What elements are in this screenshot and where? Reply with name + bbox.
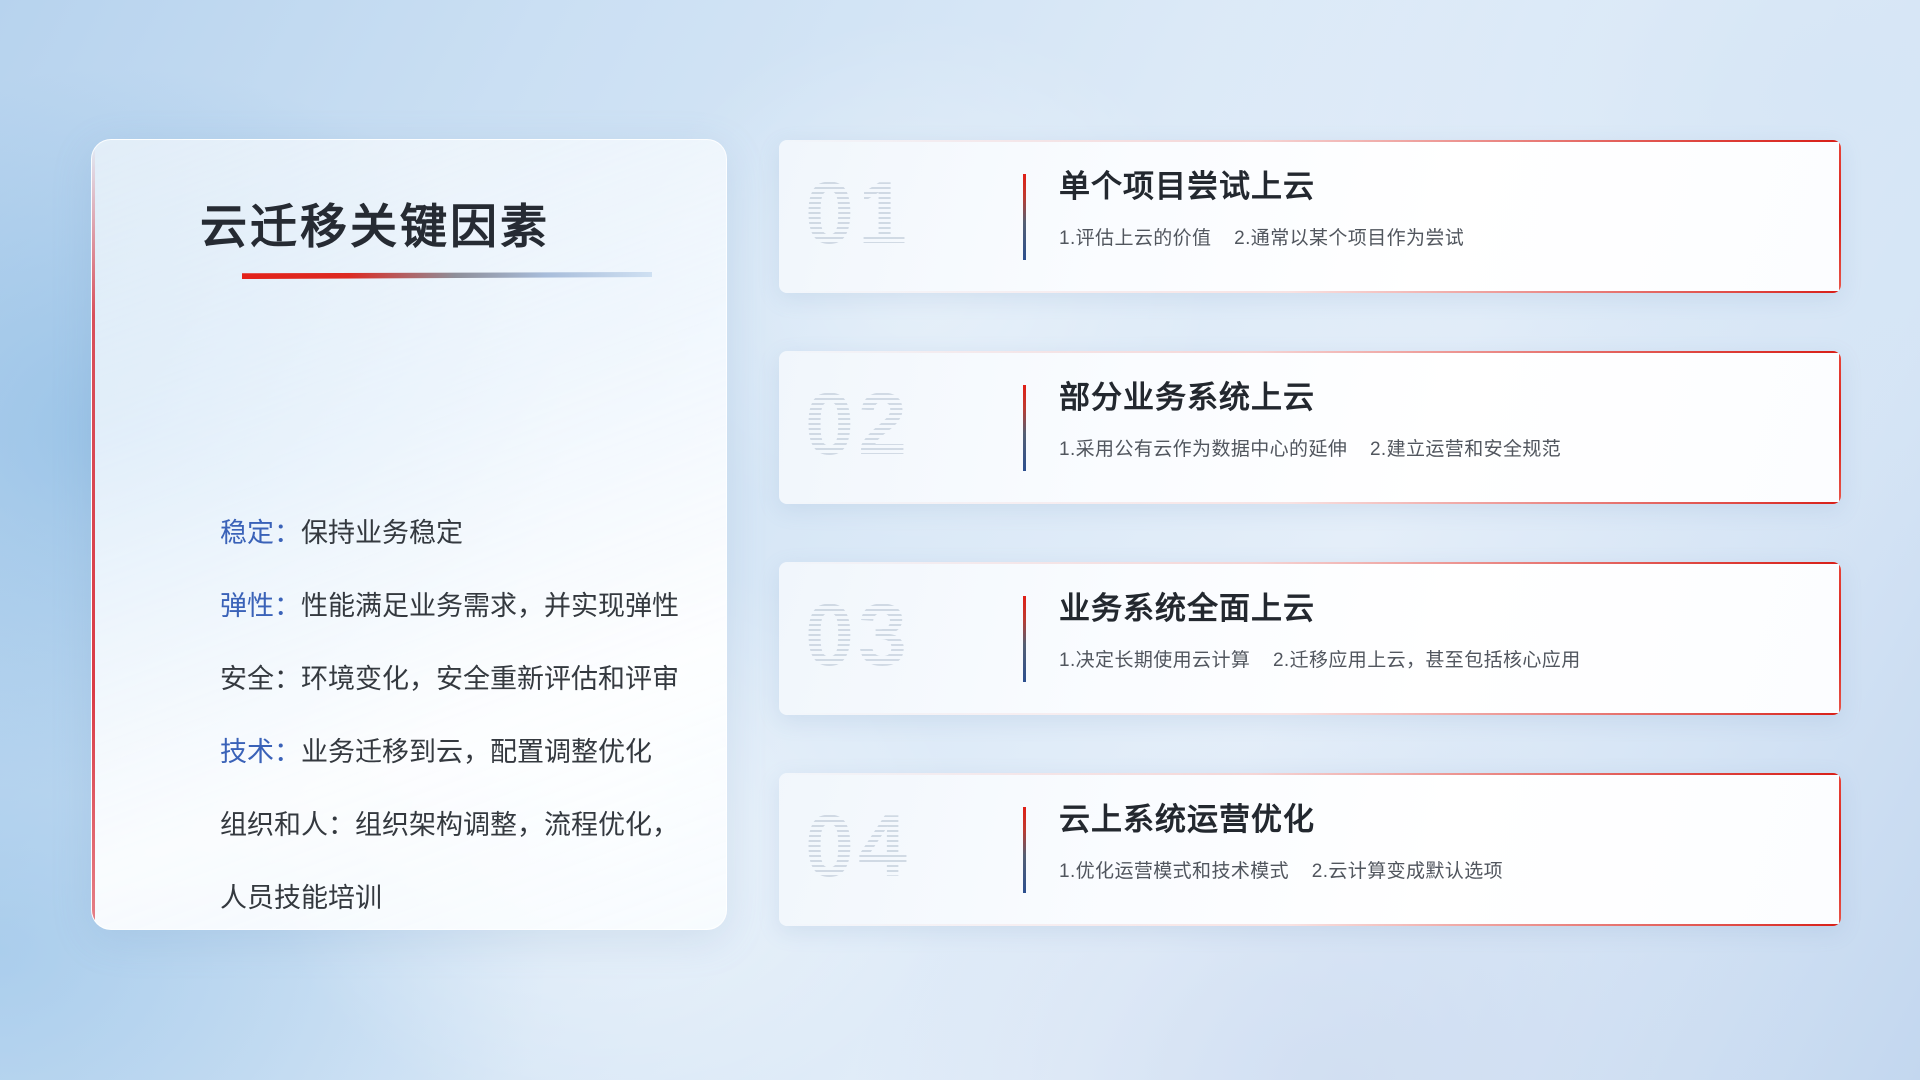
step-title: 部分业务系统上云 bbox=[1059, 379, 1817, 418]
list-item-value: 保持业务稳定 bbox=[301, 518, 463, 548]
step-description: 1.评估上云的价值 2.通常以某个项目作为尝试 bbox=[1059, 223, 1817, 250]
key-factors-panel: 云迁移关键因素 稳定：保持业务稳定 弹性：性能满足业务需求，并实现弹性 安全：环… bbox=[91, 139, 727, 930]
list-item: 人员技能培训 bbox=[220, 885, 698, 912]
key-factors-list: 稳定：保持业务稳定 弹性：性能满足业务需求，并实现弹性 安全：环境变化，安全重新… bbox=[220, 520, 698, 912]
card-bottom-edge bbox=[779, 502, 1841, 504]
list-item-key: 稳定： bbox=[220, 518, 301, 548]
title-underline-rule bbox=[242, 272, 652, 279]
card-top-edge bbox=[779, 351, 1841, 353]
step-accent-bar bbox=[1023, 385, 1026, 471]
step-accent-bar bbox=[1023, 174, 1026, 260]
list-item-key: 技术： bbox=[220, 737, 301, 767]
list-item-value: 人员技能培训 bbox=[220, 883, 382, 913]
card-bottom-edge bbox=[779, 291, 1841, 293]
card-top-edge bbox=[779, 140, 1841, 142]
step-number: 01 bbox=[805, 162, 911, 264]
step-accent-bar bbox=[1023, 807, 1026, 893]
step-text-block: 业务系统全面上云 1.决定长期使用云计算 2.迁移应用上云，甚至包括核心应用 bbox=[1059, 590, 1817, 672]
list-item-value: 环境变化，安全重新评估和评审 bbox=[301, 664, 679, 694]
list-item-value: 性能满足业务需求，并实现弹性 bbox=[301, 591, 679, 621]
step-card[interactable]: 02 部分业务系统上云 1.采用公有云作为数据中心的延伸 2.建立运营和安全规范 bbox=[779, 351, 1841, 504]
list-item: 稳定：保持业务稳定 bbox=[220, 520, 698, 547]
step-text-block: 云上系统运营优化 1.优化运营模式和技术模式 2.云计算变成默认选项 bbox=[1059, 801, 1817, 883]
step-description: 1.采用公有云作为数据中心的延伸 2.建立运营和安全规范 bbox=[1059, 434, 1817, 461]
card-bottom-edge bbox=[779, 924, 1841, 926]
list-item: 弹性：性能满足业务需求，并实现弹性 bbox=[220, 593, 698, 620]
step-number: 02 bbox=[805, 373, 911, 475]
step-title: 业务系统全面上云 bbox=[1059, 590, 1817, 629]
list-item-value: 业务迁移到云，配置调整优化 bbox=[301, 737, 652, 767]
list-item: 技术：业务迁移到云，配置调整优化 bbox=[220, 739, 698, 766]
list-item-value: 组织架构调整，流程优化， bbox=[355, 810, 679, 840]
list-item: 组织和人：组织架构调整，流程优化， bbox=[220, 812, 698, 839]
step-number: 03 bbox=[805, 584, 911, 686]
step-accent-bar bbox=[1023, 596, 1026, 682]
step-title: 单个项目尝试上云 bbox=[1059, 168, 1817, 207]
step-description: 1.决定长期使用云计算 2.迁移应用上云，甚至包括核心应用 bbox=[1059, 645, 1817, 672]
list-item-key: 安全： bbox=[220, 664, 301, 694]
step-number: 04 bbox=[805, 795, 911, 897]
migration-steps-list: 01 单个项目尝试上云 1.评估上云的价值 2.通常以某个项目作为尝试 02 部… bbox=[779, 140, 1841, 926]
step-description: 1.优化运营模式和技术模式 2.云计算变成默认选项 bbox=[1059, 856, 1817, 883]
step-title: 云上系统运营优化 bbox=[1059, 801, 1817, 840]
step-text-block: 单个项目尝试上云 1.评估上云的价值 2.通常以某个项目作为尝试 bbox=[1059, 168, 1817, 250]
card-top-edge bbox=[779, 562, 1841, 564]
step-card[interactable]: 01 单个项目尝试上云 1.评估上云的价值 2.通常以某个项目作为尝试 bbox=[779, 140, 1841, 293]
step-card[interactable]: 03 业务系统全面上云 1.决定长期使用云计算 2.迁移应用上云，甚至包括核心应… bbox=[779, 562, 1841, 715]
list-item: 安全：环境变化，安全重新评估和评审 bbox=[220, 666, 698, 693]
list-item-key: 弹性： bbox=[220, 591, 301, 621]
list-item-key: 组织和人： bbox=[220, 810, 355, 840]
step-text-block: 部分业务系统上云 1.采用公有云作为数据中心的延伸 2.建立运营和安全规范 bbox=[1059, 379, 1817, 461]
page-title: 云迁移关键因素 bbox=[200, 188, 550, 257]
step-card[interactable]: 04 云上系统运营优化 1.优化运营模式和技术模式 2.云计算变成默认选项 bbox=[779, 773, 1841, 926]
card-top-edge bbox=[779, 773, 1841, 775]
card-bottom-edge bbox=[779, 713, 1841, 715]
